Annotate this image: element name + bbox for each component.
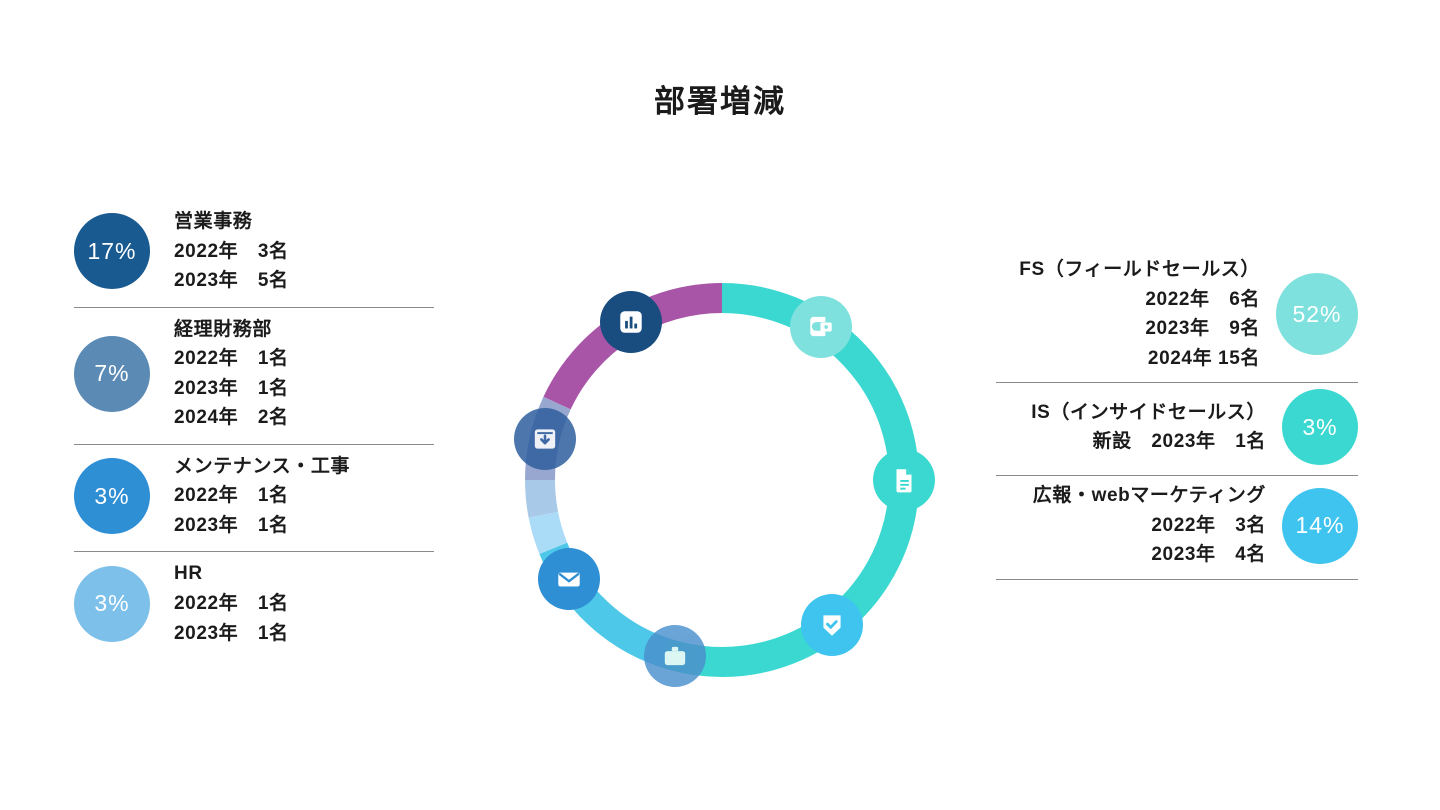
headcount-line: 2022年 3名 [1151,512,1266,540]
percent-bubble: 14% [1282,488,1358,564]
legend-item[interactable]: 17%営業事務2022年 3名2023年 5名 [74,200,434,307]
percent-bubble: 3% [1282,389,1358,465]
headcount-line: 2022年 6名 [1145,286,1260,314]
legend-item[interactable]: 7%経理財務部2022年 1名2023年 1名2024年 2名 [74,308,434,444]
headcount-line: 2022年 3名 [174,238,289,266]
headcount-line: 新設 2023年 1名 [1093,428,1266,456]
department-name: 営業事務 [174,208,252,236]
percent-bubble: 17% [74,213,150,289]
legend-item[interactable]: 3%HR2022年 1名2023年 1名 [74,552,434,659]
inbox-down-icon[interactable] [514,408,576,470]
headcount-line: 2022年 1名 [174,482,289,510]
headcount-line: 2023年 9名 [1145,315,1260,343]
department-name: 広報・webマーケティング [1033,482,1266,510]
page-title: 部署増減 [0,76,1440,121]
headcount-line: 2022年 1名 [174,590,289,618]
briefcase-icon[interactable] [644,625,706,687]
headcount-line: 2023年 1名 [174,620,289,648]
department-name: HR [174,560,203,588]
document-icon[interactable] [873,449,935,511]
percent-bubble: 52% [1276,273,1358,355]
legend-divider [996,579,1358,580]
legend-item[interactable]: IS（インサイドセールス）新設 2023年 1名3% [996,383,1358,475]
legend-item[interactable]: FS（フィールドセールス）2022年 6名2023年 9名2024年 15名52… [996,250,1358,382]
department-name: IS（インサイドセールス） [1031,399,1266,427]
donut-segment[interactable] [543,515,553,548]
percent-bubble: 7% [74,336,150,412]
headcount-line: 2023年 1名 [174,375,289,403]
shield-check-icon[interactable] [801,594,863,656]
donut-chart [490,248,954,712]
department-name: 経理財務部 [174,316,272,344]
department-name: FS（フィールドセールス） [1019,256,1260,284]
legend-item[interactable]: 3%メンテナンス・工事2022年 1名2023年 1名 [74,445,434,552]
headcount-line: 2024年 2名 [174,404,289,432]
headcount-line: 2023年 4名 [1151,541,1266,569]
percent-bubble: 3% [74,566,150,642]
headcount-line: 2023年 1名 [174,512,289,540]
legend-item[interactable]: 広報・webマーケティング2022年 3名2023年 4名14% [996,476,1358,579]
percent-bubble: 3% [74,458,150,534]
headcount-line: 2023年 5名 [174,267,289,295]
legend-column-right: FS（フィールドセールス）2022年 6名2023年 9名2024年 15名52… [996,250,1358,580]
donut-segment[interactable] [540,480,543,515]
department-name: メンテナンス・工事 [174,453,350,481]
headcount-line: 2022年 1名 [174,345,289,373]
bar-chart-icon[interactable] [600,291,662,353]
legend-column-left: 17%営業事務2022年 3名2023年 5名7%経理財務部2022年 1名20… [74,200,434,659]
headcount-line: 2024年 15名 [1148,345,1260,373]
